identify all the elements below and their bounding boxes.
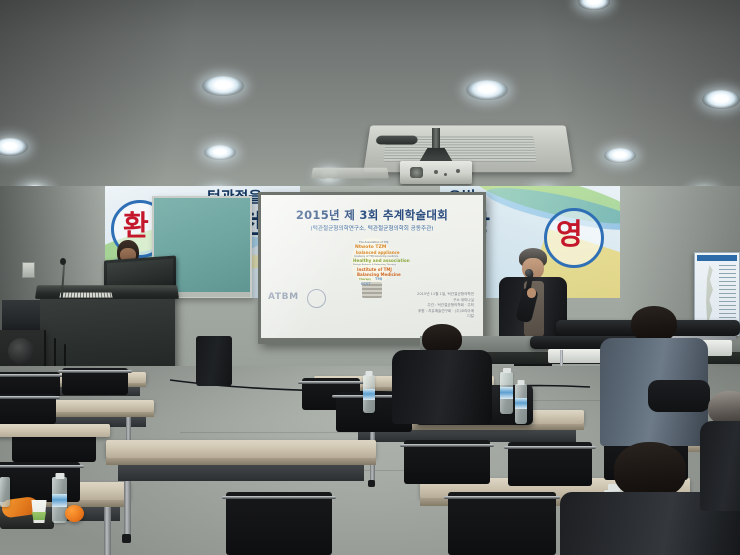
conference-room-photo: 환 턱관절을 FCST전 주최 | CHA의 후원 | 치유어 장소 | 턱관절… [0,0,740,555]
projector-lens [410,167,423,178]
chair-back [0,462,80,502]
bottle-cap [55,473,64,479]
chair-rail [504,446,596,449]
chair-rail [0,374,64,377]
bottle-cap [366,371,373,376]
chair-rail [222,496,336,499]
poster-header-band [697,255,737,261]
chair [448,492,556,555]
table-center-front [106,440,376,458]
ceiling-downlight [702,90,740,109]
audience-head [631,306,677,342]
audience-head [708,391,740,425]
chair-back [226,492,332,555]
ceiling-shadow-left [0,0,230,190]
ceiling-downlight [466,80,508,100]
ac-vent [375,136,417,145]
ceiling-downlight [202,76,244,96]
chair [226,492,332,555]
screen-glare [261,195,483,338]
table-row-left3 [0,424,110,437]
chair [62,368,128,395]
microphone-head [525,269,533,277]
ac-side-panel [311,168,389,179]
bottle-label [363,389,375,400]
ceiling-downlight [604,148,636,163]
audience-legs [196,336,232,386]
bottle-label [52,494,67,507]
table-foot [368,480,375,487]
ceiling-projector [400,161,472,184]
wall-switch-plate [22,262,35,278]
ceiling-downlight [204,145,236,160]
bottle-cap [503,368,511,373]
audience-member-dark-suit [392,326,492,400]
bottle-body [0,477,10,507]
chair-rail [0,396,60,399]
podium-microphone-head [60,258,66,265]
projector-mount-rod [432,128,440,150]
chair-rail [298,381,364,384]
chair-rail [444,496,560,499]
podium-keyboard [59,292,112,297]
table-foot [122,534,131,543]
table-leg [104,507,111,555]
audience-member-far-right-edge [700,395,740,485]
chair-rail [58,370,132,373]
bottle-label [515,398,527,409]
water-bottle [0,477,10,507]
banner-left-circle-char: 환 [123,212,149,240]
treatment-table-leg [560,350,563,366]
chair [404,440,490,484]
table-apron [118,465,364,481]
water-bottle [363,375,375,413]
audience-member-blue-shirt [600,308,708,416]
chair [0,394,56,424]
speaker-hand [527,288,536,298]
table-surface [106,440,376,458]
audience-head [614,442,686,498]
bottle-cap [518,380,525,385]
chair-rail [400,444,494,447]
table-surface [0,424,110,437]
audience-torso [700,421,740,511]
water-bottle [500,372,513,414]
amplifier-rack [2,300,40,332]
water-bottle [515,384,527,424]
audience-member-center-standing-legs [196,336,232,386]
audience-torso [392,350,492,424]
chair-back [448,492,556,555]
table-leg [124,481,131,537]
chair-rail [0,465,84,468]
table-edge [106,458,376,465]
banner-right-circle-char: 영 [556,220,583,249]
bottle-label [500,387,513,399]
tangerine [65,505,84,522]
chair [0,462,80,502]
